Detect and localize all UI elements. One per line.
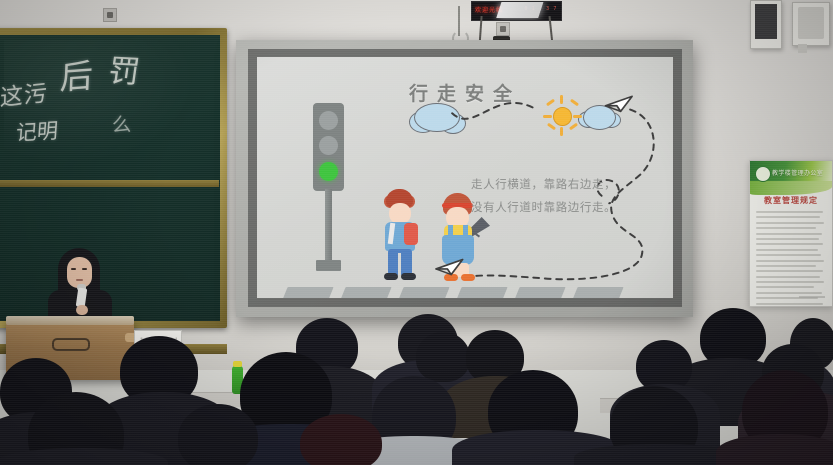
poster-signature-line [799,296,825,298]
wall-speaker-left [750,0,782,49]
audience-shoulders [716,434,833,465]
chalk-mark-1: 这污 [0,73,48,112]
classroom-photo: 欢迎光临 0 1 : 3 7 这污 后 罚 记明 么 教学楼管理办公室 教室管理… [0,0,833,465]
traffic-light-red-lamp [319,111,338,130]
lectern-handle [52,338,90,351]
projection-screen: 行走安全 [236,40,693,317]
slide-title: 行走安全 [257,79,673,106]
boy-backpack [404,223,418,245]
classroom-rules-poster: 教学楼管理办公室 教室管理规定 [749,160,833,307]
wall-speaker-right [792,2,830,46]
chalk-mark-3: 罚 [106,45,143,91]
cloud-right-icon [583,105,616,130]
lectern-top [6,316,134,325]
speaker-bracket [798,44,807,53]
audience-head [416,332,470,382]
audience-head [178,404,258,465]
fluorescent-tube-reflection [496,1,544,18]
blackboard: 这污 后 罚 记明 么 [0,28,227,328]
wall-socket-left [496,22,510,36]
cloud-left-icon [414,103,460,132]
slide-body-text: 走人行横道，靠路右边走， 没有人行道时靠路边行走。 [471,173,651,219]
wall-socket-far-left [103,8,117,22]
chalk-mark-4: 记明 [15,115,59,147]
screen-inner-border: 行走安全 [248,49,682,307]
traffic-light-yellow-lamp [319,136,338,155]
poster-title: 教室管理规定 [750,195,832,206]
boy-pedestrian [377,189,423,281]
audience-head [300,414,382,465]
presenter-hand [76,305,88,315]
green-bottle-cap [233,361,242,367]
chalk-mark-5: 么 [112,110,132,138]
traffic-light-pole [325,189,332,266]
slide-body-line-2: 没有人行道时靠路边行走。 [471,196,651,219]
poster-org-name: 教学楼管理办公室 [772,168,823,177]
chalk-mark-2: 后 [59,49,94,100]
traffic-light-housing [313,103,344,191]
traffic-light-green-lamp [319,162,338,181]
projected-slide: 行走安全 [257,57,673,298]
slide-body-line-1: 走人行横道，靠路右边走， [471,173,651,196]
poster-body-text [756,211,826,307]
poster-logo-icon [755,166,771,182]
blackboard-divider [0,180,219,187]
